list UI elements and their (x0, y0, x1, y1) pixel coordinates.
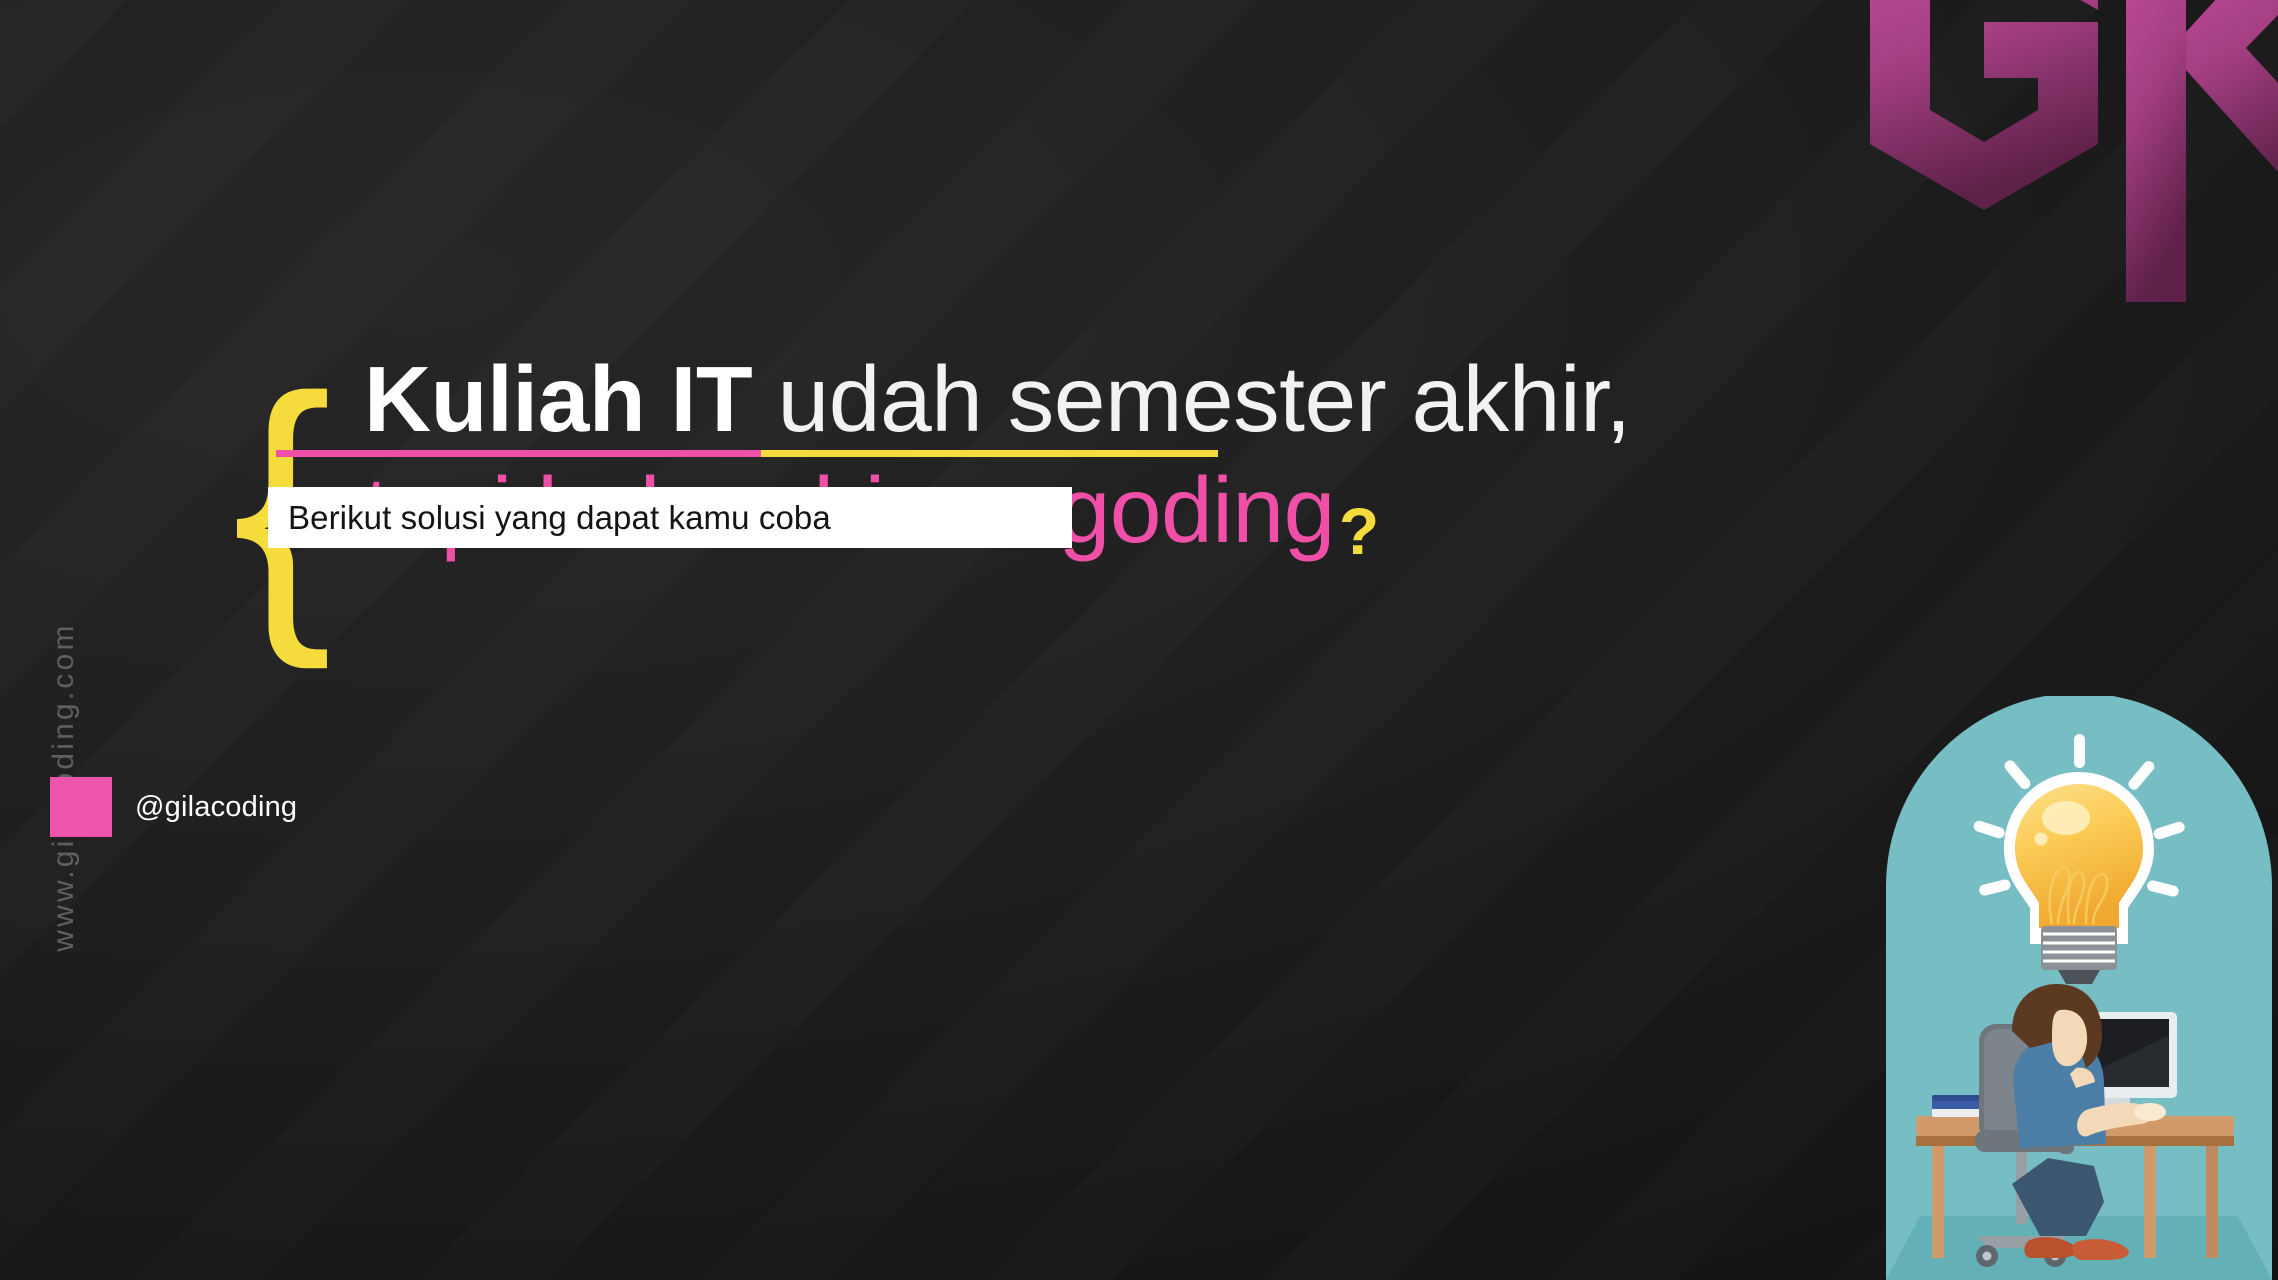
subtitle-plate: Berikut solusi yang dapat kamu coba (268, 487, 1072, 548)
headline-line-1: Kuliah IT udah semester akhir, (364, 352, 1944, 447)
subtitle-text: Berikut solusi yang dapat kamu coba (288, 499, 831, 537)
poster-canvas: www.gilacoding.com { Kuliah IT udah seme… (0, 0, 2278, 1280)
logo-letter-k-arms (2186, 0, 2278, 212)
question-mark: ? (1339, 498, 1379, 564)
logo-letter-g (1870, 0, 2098, 210)
headline-line-1-rest: udah semester akhir, (752, 347, 1631, 451)
brand-color-swatch (50, 777, 112, 837)
desk-leg-right (2144, 1146, 2156, 1258)
bulb-highlight-large (2042, 801, 2090, 835)
accent-underline (276, 450, 1218, 457)
gk-logo (1674, 0, 2278, 302)
social-handle: @gilacoding (135, 791, 297, 824)
underline-segment-pink (276, 450, 761, 457)
underline-segment-yellow (761, 450, 1218, 457)
bulb-highlight-small (2035, 833, 2048, 846)
logo-letter-k-stem (2126, 0, 2186, 302)
desk-leg-left (1932, 1146, 1944, 1258)
desk-leg-back (2206, 1146, 2218, 1258)
illustration-person-at-desk (1880, 696, 2278, 1280)
person-hand (2134, 1103, 2166, 1121)
headline-emphasis: Kuliah IT (364, 347, 752, 451)
